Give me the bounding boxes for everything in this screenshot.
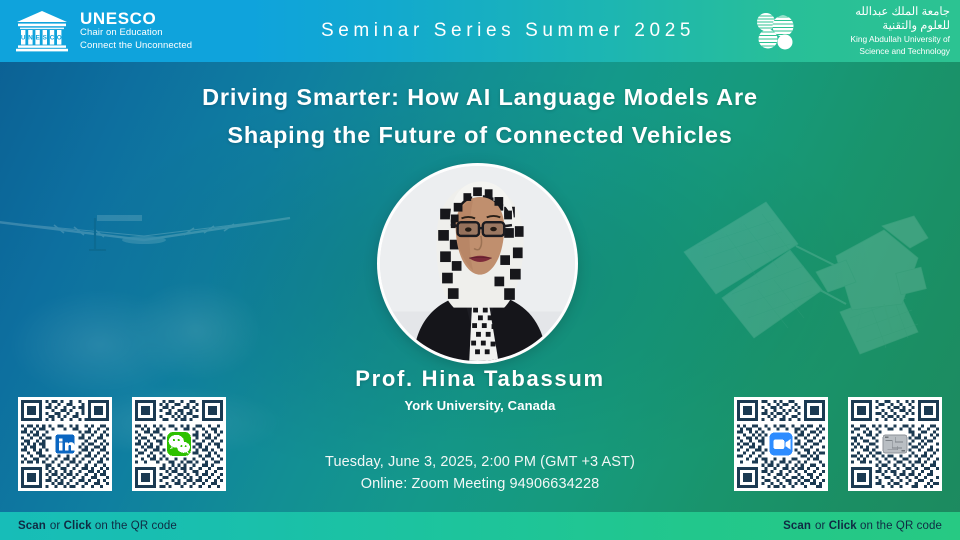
svg-text:O: O bbox=[57, 34, 62, 41]
speaker-name: Prof. Hina Tabassum bbox=[0, 366, 960, 392]
footer-right-middle: or bbox=[815, 520, 825, 532]
kaust-text-block: جامعة الملك عبدالله للعلوم والتقنية King… bbox=[802, 5, 950, 58]
kaust-arabic-line1: جامعة الملك عبدالله bbox=[802, 5, 950, 19]
footer-right-scan: Scan bbox=[783, 520, 811, 532]
speaker-portrait-image bbox=[380, 166, 575, 361]
qr-wechat[interactable] bbox=[132, 397, 226, 491]
kaust-english-line1: King Abdullah University of bbox=[802, 34, 950, 45]
footer-right-click: Click bbox=[829, 520, 857, 532]
footer-bar: Scan or Click on the QR code Scan or Cli… bbox=[0, 512, 960, 540]
footer-left-tail: on the QR code bbox=[95, 520, 177, 532]
unesco-subtitle-line1: Chair on Education bbox=[80, 27, 192, 40]
title-line-1: Driving Smarter: How AI Language Models … bbox=[0, 78, 960, 116]
qr-wechat-image bbox=[135, 400, 223, 488]
seminar-series-label: Seminar Series Summer 2025 bbox=[321, 20, 695, 41]
glider-aircraft-illustration bbox=[0, 188, 294, 268]
header-bar: U N E S C O UNESCO Chair on Education Co… bbox=[0, 0, 960, 62]
qr-linkedin-image bbox=[21, 400, 109, 488]
footer-left-middle: or bbox=[50, 520, 60, 532]
svg-text:U: U bbox=[21, 34, 26, 41]
svg-text:N: N bbox=[28, 34, 33, 41]
kaust-arabic-line2: للعلوم والتقنية bbox=[802, 19, 950, 33]
seminar-poster: U N E S C O UNESCO Chair on Education Co… bbox=[0, 0, 960, 540]
svg-text:C: C bbox=[50, 34, 55, 41]
unesco-subtitle-line2: Connect the Unconnected bbox=[80, 40, 192, 53]
qr-zoom[interactable] bbox=[734, 397, 828, 491]
svg-text:E: E bbox=[35, 34, 40, 41]
qr-linkedin[interactable] bbox=[18, 397, 112, 491]
qr-zoom-image bbox=[737, 400, 825, 488]
footer-right-tail: on the QR code bbox=[860, 520, 942, 532]
unesco-temple-icon: U N E S C O bbox=[14, 9, 70, 53]
title-line-2: Shaping the Future of Connected Vehicles bbox=[0, 116, 960, 154]
speaker-portrait bbox=[377, 163, 578, 364]
seminar-title: Driving Smarter: How AI Language Models … bbox=[0, 78, 960, 154]
svg-text:S: S bbox=[43, 34, 48, 41]
footer-left-click: Click bbox=[64, 520, 92, 532]
seminar-series-banner: Seminar Series Summer 2025 bbox=[262, 20, 754, 42]
qr-generic[interactable] bbox=[848, 397, 942, 491]
footer-note-right: Scan or Click on the QR code bbox=[783, 512, 942, 540]
kaust-english-line2: Science and Technology bbox=[802, 46, 950, 57]
unesco-branding: U N E S C O UNESCO Chair on Education Co… bbox=[0, 9, 262, 53]
footer-note-left: Scan or Click on the QR code bbox=[18, 512, 177, 540]
satellite-illustration bbox=[670, 186, 960, 361]
unesco-text-block: UNESCO Chair on Education Connect the Un… bbox=[80, 10, 192, 53]
qr-generic-image bbox=[851, 400, 939, 488]
unesco-name: UNESCO bbox=[80, 10, 192, 28]
kaust-circles-icon bbox=[754, 11, 796, 51]
kaust-branding: جامعة الملك عبدالله للعلوم والتقنية King… bbox=[754, 5, 960, 58]
footer-left-scan: Scan bbox=[18, 520, 46, 532]
